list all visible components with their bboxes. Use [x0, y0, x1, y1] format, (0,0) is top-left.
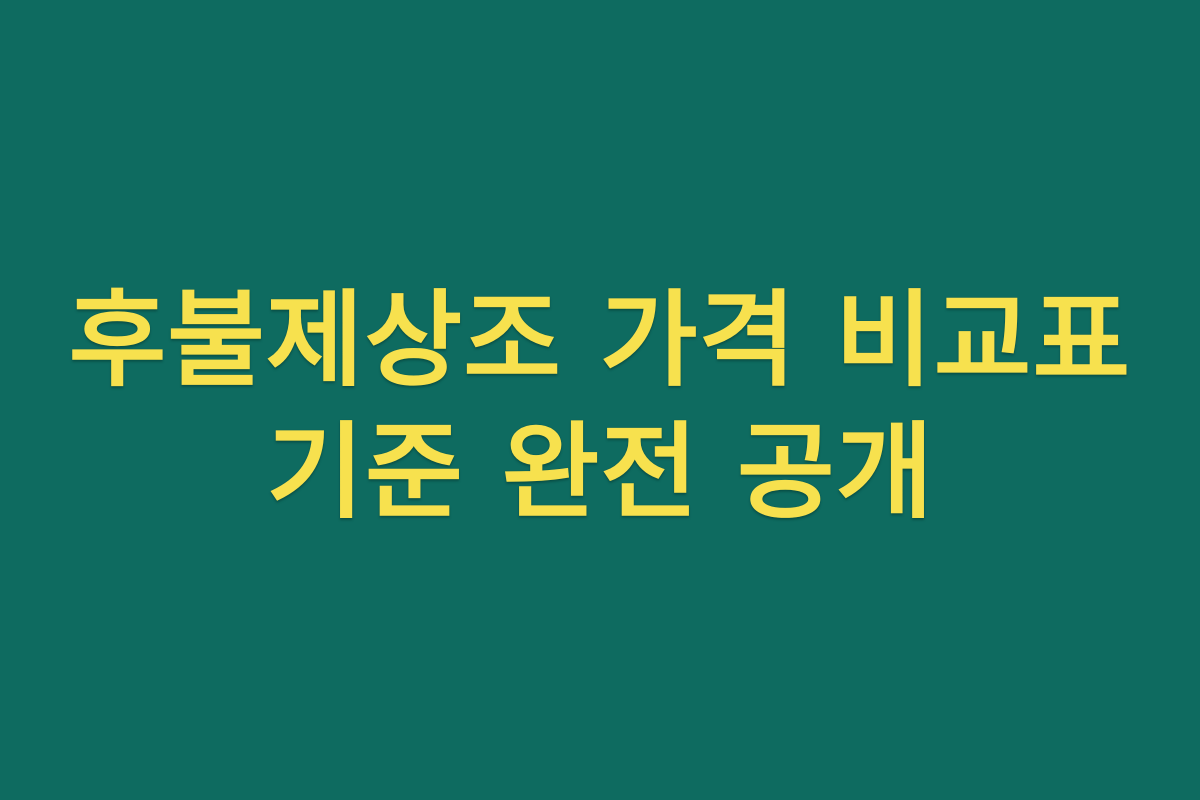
headline-block: 후불제상조 가격 비교표 기준 완전 공개 — [0, 288, 1200, 524]
headline-line-1: 후불제상조 가격 비교표 — [69, 288, 1132, 392]
headline-line-2: 기준 완전 공개 — [266, 420, 934, 524]
title-card-canvas: 후불제상조 가격 비교표 기준 완전 공개 — [0, 0, 1200, 800]
